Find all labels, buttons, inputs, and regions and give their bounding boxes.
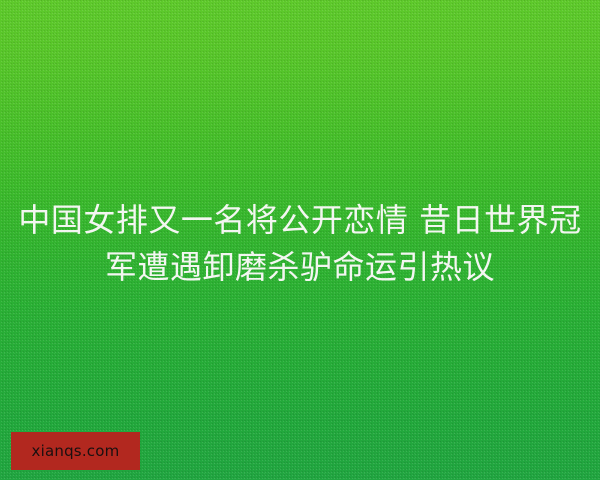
watermark-badge: xianqs.com [11, 432, 140, 470]
headline-text: 中国女排又一名将公开恋情 昔日世界冠军遭遇卸磨杀驴命运引热议 [0, 197, 600, 291]
poster-image: 中国女排又一名将公开恋情 昔日世界冠军遭遇卸磨杀驴命运引热议 xianqs.co… [0, 0, 600, 480]
watermark-label: xianqs.com [32, 444, 120, 459]
